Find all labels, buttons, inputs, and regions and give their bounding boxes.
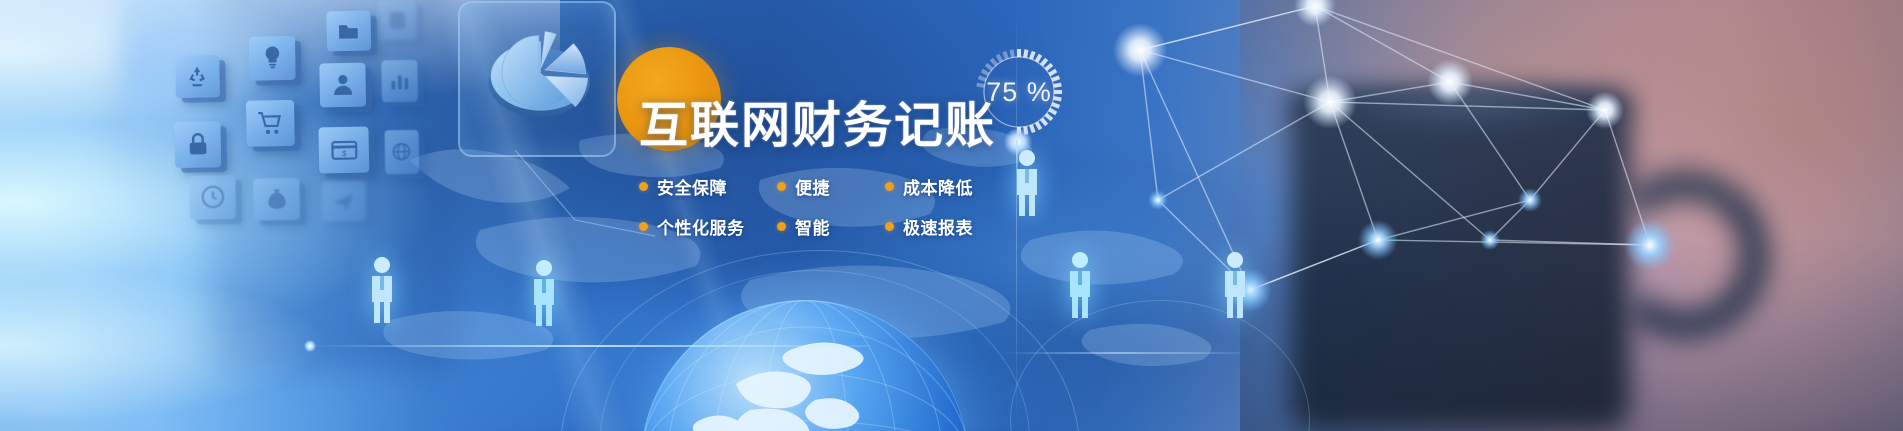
globe-icon [385,130,420,175]
feature-list: 安全保障 便捷 成本降低 个性化服务 智能 极速报表 [639,174,1059,239]
accent-rail [310,345,870,347]
feature-label: 安全保障 [657,174,727,199]
feature-item: 极速报表 [885,214,1059,239]
banner-copy: 互联网财务记账 安全保障 便捷 成本降低 个性化服务 智能 [639,100,1059,239]
feature-label: 成本降低 [903,174,973,199]
person-figure [1063,250,1097,320]
credit-card-icon: $ [318,127,369,174]
person-figure [1218,250,1252,320]
promo-banner: $ [0,0,1903,431]
shopping-cart-icon [246,100,295,147]
money-bag-icon [253,178,300,221]
lock-icon [174,121,221,168]
feature-item: 个性化服务 [639,214,777,239]
node-network [1030,0,1690,320]
feature-item: 安全保障 [639,174,777,199]
accent-rail-dot [304,340,316,352]
bullet-icon [885,222,894,231]
pie-leader-line [505,150,655,270]
lightbulb-icon [249,36,296,81]
world-globe [640,300,970,431]
bullet-icon [639,182,648,191]
clock-icon [189,175,236,220]
pie-chart [480,5,602,137]
cube-icon-wall: $ [166,0,410,218]
feature-label: 个性化服务 [657,214,745,239]
bullet-icon [777,222,786,231]
plane-icon [321,181,366,222]
feature-label: 便捷 [795,174,830,199]
bullet-icon [639,222,648,231]
person-icon [319,63,366,108]
feature-item: 成本降低 [885,174,1059,199]
feature-item: 便捷 [777,174,885,199]
feature-label: 极速报表 [903,214,973,239]
folder-icon [326,11,371,52]
bullet-icon [777,182,786,191]
bar-chart-icon [381,60,418,103]
feature-item: 智能 [777,214,885,239]
recycle-icon [175,55,220,98]
person-figure [365,255,399,325]
person-figure [527,258,561,328]
feature-label: 智能 [795,214,830,239]
bullet-icon [885,182,894,191]
database-icon [378,0,417,40]
accent-rail [1000,352,1240,354]
svg-text:$: $ [342,148,347,158]
page-title: 互联网财务记账 [639,100,1059,152]
